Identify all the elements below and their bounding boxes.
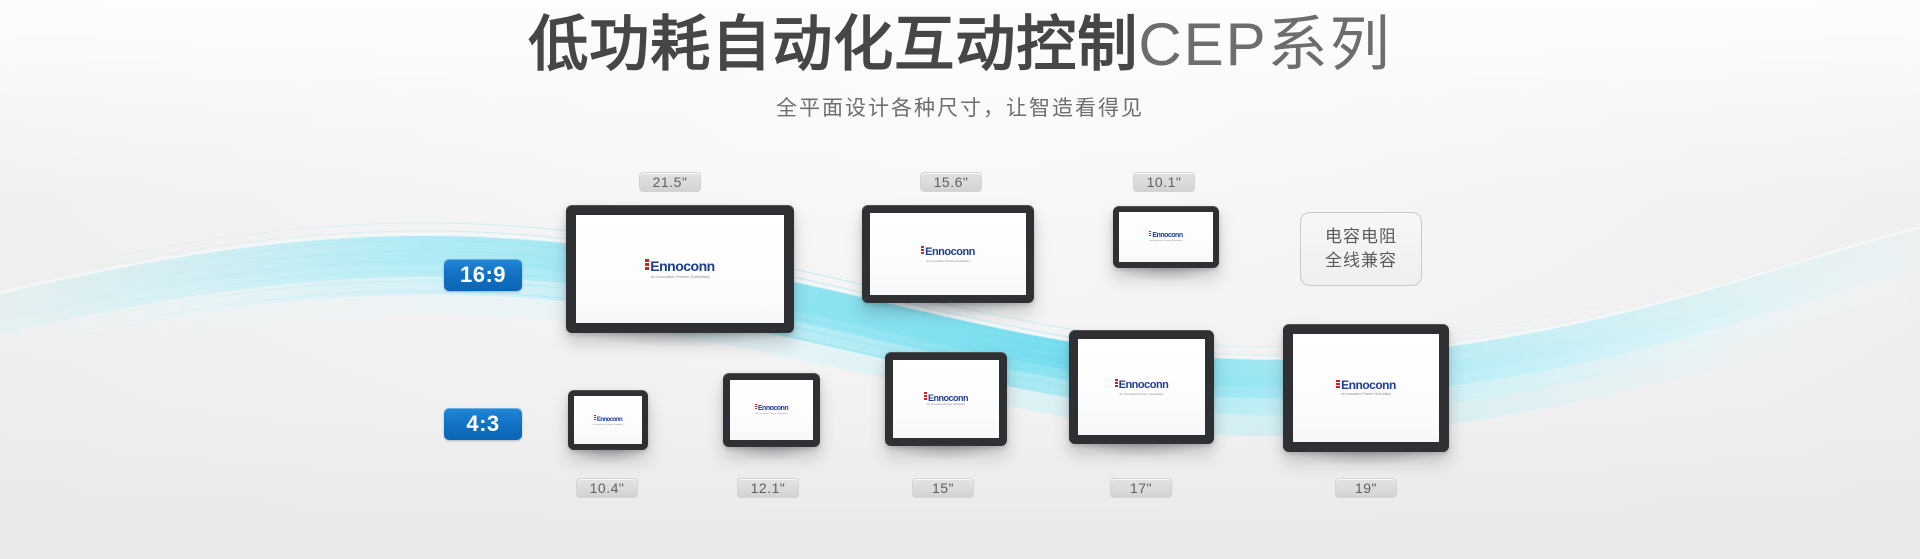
monitor-screen-19: Ennoconn An Innovative Pioneer Subsidiar…: [1293, 334, 1439, 442]
logo-bars-icon: [755, 404, 757, 410]
logo-bars-icon: [1336, 380, 1340, 389]
monitor-21-5-inch[interactable]: Ennoconn An Innovative Pioneer Subsidiar…: [566, 205, 794, 333]
ennoconn-logo: Ennoconn An Innovative Pioneer Subsidiar…: [924, 392, 968, 407]
size-label-10-1: 10.1": [1133, 172, 1195, 192]
logo-wordmark: Ennoconn: [1115, 379, 1169, 391]
logo-tagline: An Innovative Pioneer Subsidiary: [926, 260, 970, 263]
logo-name: Ennoconn: [1341, 379, 1396, 391]
logo-bars-icon: [1115, 379, 1118, 388]
logo-wordmark: Ennoconn: [645, 259, 714, 273]
logo-name: Ennoconn: [1119, 380, 1169, 391]
page-title-strong: 低功耗自动化互动控制: [528, 11, 1138, 78]
page-title-series: CEP系列: [1138, 11, 1391, 78]
monitor-screen-12-1: Ennoconn An Innovative Pioneer Subsidiar…: [730, 380, 813, 440]
logo-wordmark: Ennoconn: [924, 392, 968, 403]
logo-wordmark: Ennoconn: [1336, 379, 1396, 391]
size-label-19: 19": [1335, 478, 1397, 498]
logo-bars-icon: [924, 392, 927, 401]
logo-wordmark: Ennoconn: [755, 404, 788, 412]
logo-tagline: An Innovative Pioneer Subsidiary: [1150, 240, 1182, 242]
ennoconn-logo: Ennoconn An Innovative Pioneer Subsidiar…: [1336, 379, 1396, 396]
ratio-badge-16-9[interactable]: 16:9: [444, 259, 522, 291]
logo-bars-icon: [921, 246, 924, 255]
logo-name: Ennoconn: [925, 247, 975, 258]
logo-tagline: An Innovative Pioneer Subsidiary: [651, 275, 710, 279]
page-subtitle: 全平面设计各种尺寸，让智造看得见: [0, 92, 1920, 122]
compat-line-2: 全线兼容: [1325, 249, 1397, 273]
logo-wordmark: Ennoconn: [921, 246, 975, 258]
logo-name: Ennoconn: [928, 394, 968, 403]
logo-bars-icon: [1149, 231, 1151, 237]
page-title: 低功耗自动化互动控制CEP系列: [0, 8, 1920, 82]
logo-wordmark: Ennoconn: [594, 415, 622, 423]
logo-name: Ennoconn: [758, 405, 788, 412]
monitor-screen-15-6: Ennoconn An Innovative Pioneer Subsidiar…: [870, 213, 1026, 295]
monitor-19-inch[interactable]: Ennoconn An Innovative Pioneer Subsidiar…: [1283, 324, 1449, 452]
size-label-15-6: 15.6": [920, 172, 982, 192]
product-banner: 低功耗自动化互动控制CEP系列 全平面设计各种尺寸，让智造看得见 16:9 4:…: [0, 0, 1920, 559]
logo-tagline: An Innovative Pioneer Subsidiary: [755, 413, 787, 415]
monitor-10-4-inch[interactable]: Ennoconn An Innovative Pioneer Subsidiar…: [568, 390, 648, 450]
logo-wordmark: Ennoconn: [1149, 231, 1182, 239]
ennoconn-logo: Ennoconn An Innovative Pioneer Subsidiar…: [921, 246, 975, 263]
size-label-15: 15": [912, 478, 974, 498]
logo-name: Ennoconn: [1152, 232, 1182, 239]
ratio-badge-4-3[interactable]: 4:3: [444, 408, 522, 440]
logo-tagline: An Innovative Pioneer Subsidiary: [1119, 393, 1163, 396]
logo-bars-icon: [645, 259, 649, 271]
logo-bars-icon: [594, 415, 596, 421]
size-label-21-5: 21.5": [639, 172, 701, 192]
logo-tagline: An Innovative Pioneer Subsidiary: [927, 404, 965, 407]
logo-name: Ennoconn: [597, 417, 622, 423]
monitor-screen-15: Ennoconn An Innovative Pioneer Subsidiar…: [893, 360, 999, 438]
monitor-17-inch[interactable]: Ennoconn An Innovative Pioneer Subsidiar…: [1069, 330, 1214, 444]
monitor-screen-10-1: Ennoconn An Innovative Pioneer Subsidiar…: [1119, 212, 1213, 262]
logo-tagline: An Innovative Pioneer Subsidiary: [593, 424, 622, 426]
compat-line-1: 电容电阻: [1325, 225, 1397, 249]
size-label-12-1: 12.1": [737, 478, 799, 498]
ennoconn-logo: Ennoconn An Innovative Pioneer Subsidiar…: [1149, 231, 1182, 242]
logo-name: Ennoconn: [650, 259, 714, 273]
size-label-10-4: 10.4": [576, 478, 638, 498]
ennoconn-logo: Ennoconn An Innovative Pioneer Subsidiar…: [755, 404, 788, 415]
monitor-15-inch[interactable]: Ennoconn An Innovative Pioneer Subsidiar…: [885, 352, 1007, 446]
logo-tagline: An Innovative Pioneer Subsidiary: [1341, 393, 1391, 396]
monitor-screen-21-5: Ennoconn An Innovative Pioneer Subsidiar…: [576, 215, 784, 323]
size-label-17: 17": [1110, 478, 1172, 498]
monitor-screen-10-4: Ennoconn An Innovative Pioneer Subsidiar…: [574, 396, 642, 444]
monitor-screen-17: Ennoconn An Innovative Pioneer Subsidiar…: [1078, 339, 1205, 435]
ennoconn-logo: Ennoconn An Innovative Pioneer Subsidiar…: [1115, 379, 1169, 396]
monitor-10-1-inch[interactable]: Ennoconn An Innovative Pioneer Subsidiar…: [1113, 206, 1219, 268]
banner-heading: 低功耗自动化互动控制CEP系列 全平面设计各种尺寸，让智造看得见: [0, 8, 1920, 122]
monitor-15-6-inch[interactable]: Ennoconn An Innovative Pioneer Subsidiar…: [862, 205, 1034, 303]
ennoconn-logo: Ennoconn An Innovative Pioneer Subsidiar…: [593, 415, 622, 426]
ennoconn-logo: Ennoconn An Innovative Pioneer Subsidiar…: [645, 259, 714, 279]
touch-compatibility-note: 电容电阻 全线兼容: [1300, 212, 1422, 286]
monitor-12-1-inch[interactable]: Ennoconn An Innovative Pioneer Subsidiar…: [723, 373, 820, 447]
